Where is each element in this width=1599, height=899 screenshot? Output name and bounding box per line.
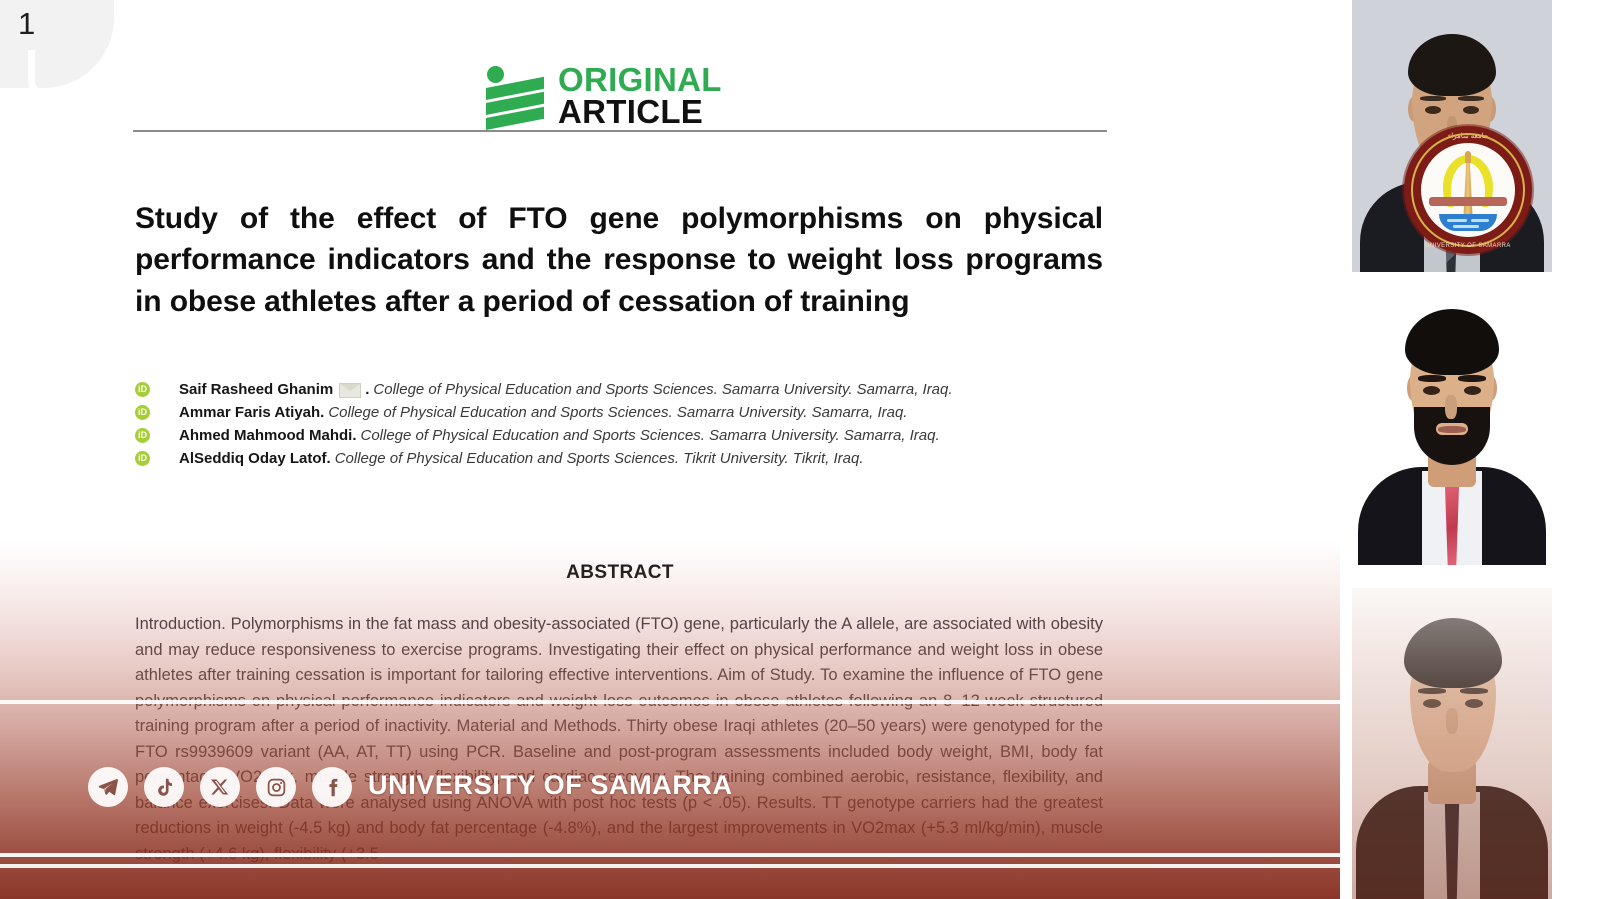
seal-inner bbox=[1421, 143, 1515, 237]
photo2-mouth bbox=[1438, 426, 1466, 433]
author-affiliation: College of Physical Education and Sports… bbox=[373, 381, 952, 398]
photo2-eye-right bbox=[1464, 386, 1481, 395]
title-line-3: in obese athletes after a period of cess… bbox=[135, 281, 1103, 322]
photo1-brow-right bbox=[1458, 96, 1484, 101]
orcid-icon[interactable]: iD bbox=[135, 451, 150, 466]
author-name: Saif Rasheed Ghanim bbox=[179, 381, 333, 398]
orcid-icon[interactable]: iD bbox=[135, 428, 150, 443]
social-links-bar bbox=[88, 767, 352, 807]
instagram-icon[interactable] bbox=[256, 767, 296, 807]
title-line-2: performance indicators and the response … bbox=[135, 239, 1103, 280]
author-row: iD Ammar Faris Atiyah. College of Physic… bbox=[135, 401, 1135, 424]
presentation-slide: 1 ORIGINAL ARTICLE Study of the ef bbox=[0, 0, 1599, 899]
seal-minaret-top bbox=[1465, 151, 1471, 163]
x-twitter-icon[interactable] bbox=[200, 767, 240, 807]
masthead-divider bbox=[133, 130, 1107, 132]
seal-english-bottom: UNIVERSITY OF SAMARRA bbox=[1404, 243, 1532, 249]
author-list: iD Saif Rasheed Ghanim . College of Phys… bbox=[135, 378, 1135, 470]
author-affiliation: College of Physical Education and Sports… bbox=[361, 427, 940, 444]
abstract-heading: ABSTRACT bbox=[0, 562, 1240, 584]
author-name: Ahmed Mahmood Mahdi. bbox=[179, 427, 357, 444]
author-photo-2 bbox=[1352, 285, 1552, 565]
photo2-eye-left bbox=[1423, 386, 1440, 395]
masthead: ORIGINAL ARTICLE bbox=[0, 52, 1340, 138]
orcid-icon[interactable]: iD bbox=[135, 405, 150, 420]
author-name: AlSeddiq Oday Latof. bbox=[179, 450, 331, 467]
photo2-brow-right bbox=[1458, 375, 1486, 382]
seal-wave-1 bbox=[1447, 219, 1467, 222]
page-number: 1 bbox=[18, 6, 35, 42]
seal-scroll-banner bbox=[1429, 197, 1507, 206]
telegram-icon[interactable] bbox=[88, 767, 128, 807]
logo-mark-icon bbox=[486, 65, 544, 127]
seal-wave-3 bbox=[1453, 225, 1479, 228]
photo2-brow-left bbox=[1418, 375, 1446, 382]
photo2-nose bbox=[1445, 395, 1457, 419]
author-photo-3 bbox=[1352, 588, 1552, 899]
university-of-samarra-seal: جامعة سامراء UNIVERSITY OF SAMARRA bbox=[1404, 126, 1532, 254]
logo-word-article: ARTICLE bbox=[558, 96, 722, 128]
article-page: 1 ORIGINAL ARTICLE Study of the ef bbox=[0, 0, 1340, 899]
seal-water bbox=[1439, 214, 1497, 231]
logo-word-original: ORIGINAL bbox=[558, 64, 722, 96]
seal-wave-2 bbox=[1471, 219, 1489, 222]
author-separator: . bbox=[365, 381, 369, 398]
author-row: iD Ahmed Mahmood Mahdi. College of Physi… bbox=[135, 424, 1135, 447]
author-photo-rail: جامعة سامراء UNIVERSITY OF SAMARRA bbox=[1340, 0, 1599, 899]
orcid-icon[interactable]: iD bbox=[135, 382, 150, 397]
abstract-text: Introduction. Polymorphisms in the fat m… bbox=[135, 612, 1103, 867]
original-article-logo: ORIGINAL ARTICLE bbox=[486, 58, 751, 134]
photo1-eye-right bbox=[1463, 106, 1479, 114]
photo2-hair bbox=[1405, 309, 1499, 375]
author-row: iD AlSeddiq Oday Latof. College of Physi… bbox=[135, 447, 1135, 470]
photo1-brow-left bbox=[1420, 96, 1446, 101]
article-title: Study of the effect of FTO gene polymorp… bbox=[135, 198, 1103, 322]
email-icon[interactable] bbox=[339, 383, 361, 398]
university-name-overlay: UNIVERSITY OF SAMARRA bbox=[368, 770, 733, 801]
photo1-hair bbox=[1408, 34, 1496, 96]
photo1-eye-left bbox=[1425, 106, 1441, 114]
facebook-icon[interactable] bbox=[312, 767, 352, 807]
author-row: iD Saif Rasheed Ghanim . College of Phys… bbox=[135, 378, 1135, 401]
logo-dot bbox=[487, 66, 504, 83]
author-affiliation: College of Physical Education and Sports… bbox=[328, 404, 907, 421]
tiktok-icon[interactable] bbox=[144, 767, 184, 807]
photo3-wash bbox=[1352, 588, 1552, 899]
title-line-1: Study of the effect of FTO gene polymorp… bbox=[135, 198, 1103, 239]
logo-wordmark: ORIGINAL ARTICLE bbox=[558, 64, 722, 128]
author-affiliation: College of Physical Education and Sports… bbox=[335, 450, 864, 467]
author-name: Ammar Faris Atiyah. bbox=[179, 404, 324, 421]
